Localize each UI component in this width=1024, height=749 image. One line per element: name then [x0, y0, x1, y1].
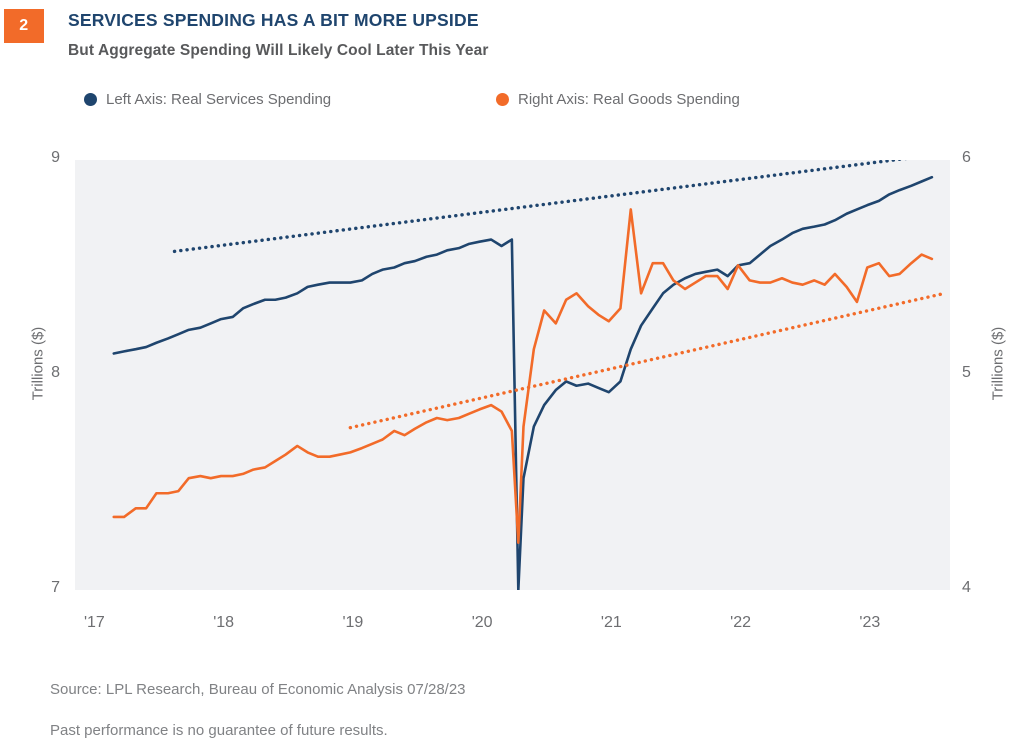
y-axis-tick-right: 5: [962, 364, 992, 382]
x-axis-tick: '19: [328, 614, 378, 632]
slide-number-badge: 2: [4, 9, 44, 43]
series-line-4: [350, 293, 945, 427]
y-axis-tick-right: 6: [962, 149, 992, 167]
y-axis-tick-left: 9: [30, 149, 60, 167]
disclaimer-note: Past performance is no guarantee of futu…: [50, 722, 388, 739]
legend-item-services: Left Axis: Real Services Spending: [84, 91, 331, 108]
series-line-1: [114, 177, 932, 590]
circle-marker-icon: [496, 93, 509, 106]
chart-plot-area: [75, 160, 950, 590]
circle-marker-icon: [84, 93, 97, 106]
source-note: Source: LPL Research, Bureau of Economic…: [50, 681, 466, 698]
page-title: SERVICES SPENDING HAS A BIT MORE UPSIDE: [68, 10, 479, 31]
chart-canvas: [75, 160, 950, 590]
y-axis-label-right: Trillions ($): [990, 304, 1007, 424]
y-axis-tick-left: 7: [30, 579, 60, 597]
legend-label-services: Left Axis: Real Services Spending: [106, 91, 331, 108]
x-axis-tick: '21: [586, 614, 636, 632]
legend-item-goods: Right Axis: Real Goods Spending: [496, 91, 740, 108]
chart-legend: Left Axis: Real Services Spending Right …: [0, 88, 1024, 118]
legend-label-goods: Right Axis: Real Goods Spending: [518, 91, 740, 108]
x-axis-tick: '20: [457, 614, 507, 632]
page-subtitle: But Aggregate Spending Will Likely Cool …: [68, 42, 489, 60]
x-axis-tick: '18: [199, 614, 249, 632]
series-line-2: [175, 160, 945, 251]
x-axis-tick: '17: [69, 614, 119, 632]
y-axis-tick-right: 4: [962, 579, 992, 597]
x-axis-tick: '23: [845, 614, 895, 632]
y-axis-label-left: Trillions ($): [30, 304, 47, 424]
x-axis-tick: '22: [716, 614, 766, 632]
